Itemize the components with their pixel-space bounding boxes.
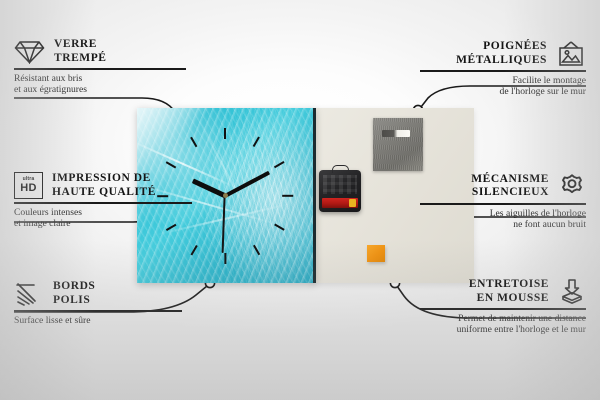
ultra-hd-icon: ultra HD (14, 172, 43, 199)
battery-plus-terminal (349, 199, 356, 207)
hour-tick (252, 136, 260, 147)
feature-rule (14, 202, 192, 204)
ultra-hd-main-text: HD (20, 183, 37, 194)
feature-rule (420, 203, 586, 205)
clock-mechanism (319, 170, 361, 212)
feature-description: Surface lisse et sûre (14, 315, 182, 326)
hands-center-cap (223, 193, 228, 198)
feature-description: Permet de maintenir une distance uniform… (420, 313, 586, 336)
feature-impression-haute-qualite: ultra HD IMPRESSION DE HAUTE QUALITÉ Cou… (14, 172, 192, 229)
feature-title: BORDS POLIS (53, 280, 95, 307)
feature-poignees-metalliques: POIGNÉES MÉTALLIQUES Facilite le montage… (420, 40, 586, 97)
hour-tick (282, 194, 293, 196)
feature-description: Facilite le montage de l'horloge sur le … (420, 75, 586, 98)
feature-title: VERRE TREMPÉ (54, 38, 107, 65)
feature-description: Couleurs intenses et image claire (14, 207, 192, 230)
feature-title: POIGNÉES MÉTALLIQUES (456, 40, 547, 67)
mechanism-texture (323, 175, 357, 194)
feature-verre-trempe: VERRE TREMPÉ Résistant aux bris et aux é… (14, 38, 186, 95)
feature-rule (14, 310, 182, 312)
mechanism-hanger (332, 165, 349, 173)
second-hand (222, 195, 226, 252)
wall-mount-frame-icon (556, 41, 586, 67)
diamond-icon (14, 40, 45, 64)
feature-title: IMPRESSION DE HAUTE QUALITÉ (52, 172, 156, 199)
feature-rule (420, 70, 586, 72)
feature-entretoise-en-mousse: ENTRETOISE EN MOUSSE Permet de maintenir… (420, 278, 586, 335)
hour-tick (190, 136, 198, 147)
hour-tick (274, 160, 285, 168)
feature-rule (420, 308, 586, 310)
hour-tick (224, 253, 226, 264)
polished-edges-icon (14, 282, 44, 306)
battery (322, 198, 358, 208)
hour-tick (252, 244, 260, 255)
feature-bords-polis: BORDS POLIS Surface lisse et sûre (14, 280, 182, 326)
product-infographic: VERRE TREMPÉ Résistant aux bris et aux é… (0, 0, 600, 400)
foam-spacer-icon (558, 279, 586, 305)
hour-hand (191, 178, 226, 198)
hour-tick (274, 223, 285, 231)
feature-description: Les aiguilles de l'horloge ne font aucun… (420, 208, 586, 231)
feature-title: ENTRETOISE EN MOUSSE (469, 278, 549, 305)
feature-mecanisme-silencieux: MÉCANISME SILENCIEUX Les aiguilles de l'… (420, 172, 586, 230)
hour-tick (166, 160, 177, 168)
keyhole-slot (382, 130, 410, 137)
metal-hanger-plate (373, 118, 423, 171)
hour-tick (224, 128, 226, 139)
feature-rule (14, 68, 186, 70)
minute-hand (224, 170, 270, 197)
foam-spacer (367, 245, 385, 262)
gear-icon (558, 172, 586, 200)
hour-tick (190, 244, 198, 255)
feature-title: MÉCANISME SILENCIEUX (471, 173, 549, 200)
feature-description: Résistant aux bris et aux égratignures (14, 73, 186, 96)
